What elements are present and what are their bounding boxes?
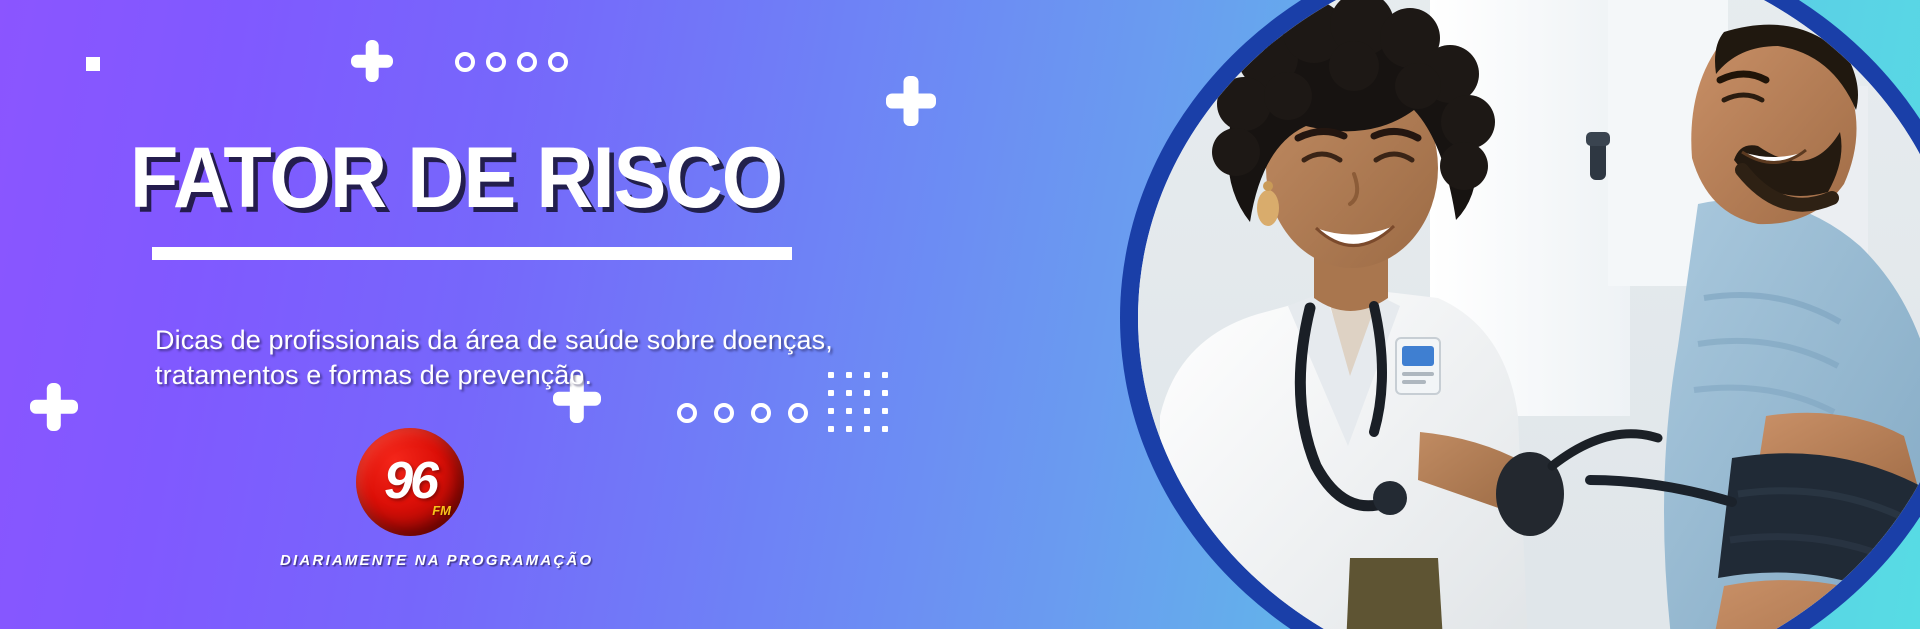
subtitle-text: Dicas de profissionais da área de saúde … bbox=[155, 323, 875, 392]
left-content: FATOR DE RISCO Dicas de profissionais da… bbox=[0, 0, 1100, 629]
risk-factor-banner: FATOR DE RISCO Dicas de profissionais da… bbox=[0, 0, 1920, 629]
radio-logo-circle: 96 FM bbox=[356, 428, 464, 536]
page-title: FATOR DE RISCO bbox=[130, 138, 782, 220]
doctor-patient-photo bbox=[1138, 0, 1920, 629]
photo-ring-frame bbox=[1120, 0, 1920, 629]
radio-logo-number: 96 bbox=[356, 451, 464, 511]
title-underline-bar bbox=[152, 247, 792, 260]
logo-caption: DIARIAMENTE NA PROGRAMAÇÃO bbox=[280, 552, 540, 569]
radio-logo-fm-label: FM bbox=[432, 503, 451, 518]
radio-logo-block: 96 FM DIARIAMENTE NA PROGRAMAÇÃO bbox=[280, 428, 540, 569]
photo-container bbox=[1138, 0, 1920, 629]
